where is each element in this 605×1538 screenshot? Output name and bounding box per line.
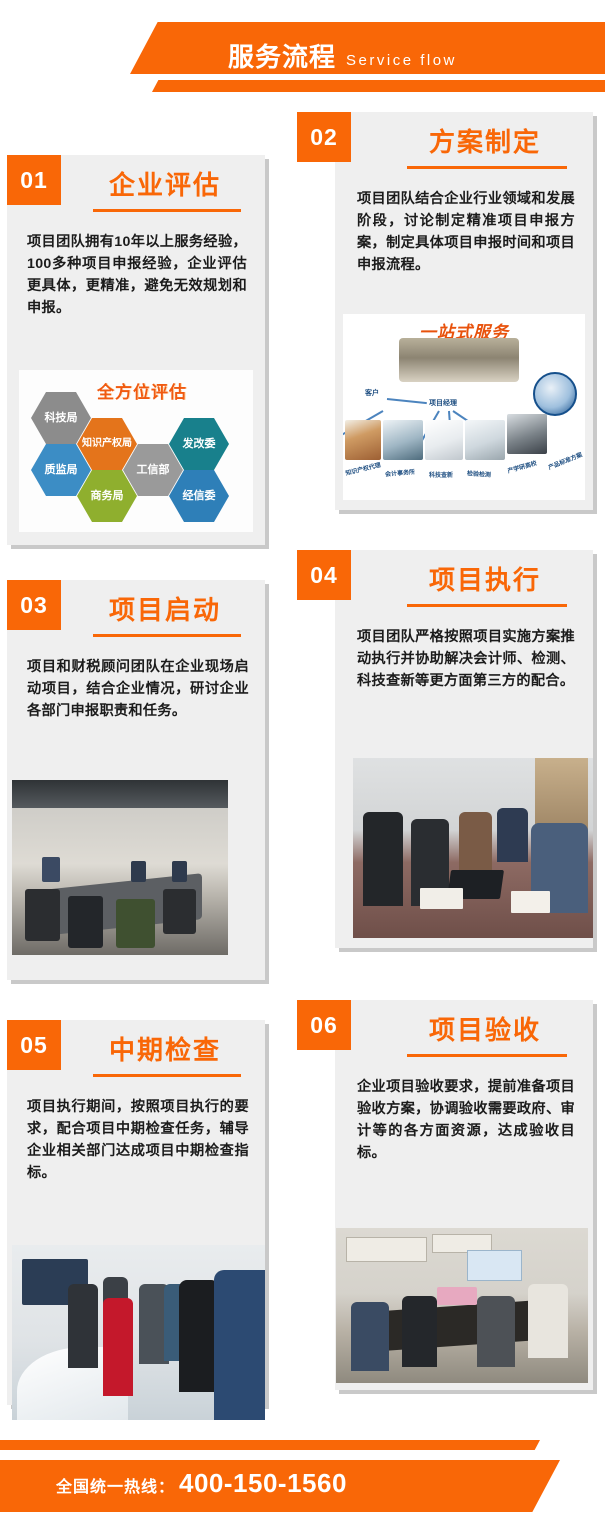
one-stop-label-customer: 客户: [365, 388, 379, 398]
step-card-06: 06 项目验收 企业项目验收要求，提前准备项目验收方案，协调验收需要政府、审计等…: [335, 1000, 593, 1390]
one-stop-branch-label: 科技查新: [429, 470, 453, 479]
step-description: 企业项目验收要求，提前准备项目验收方案，协调验收需要政府、审计等的各方面资源，达…: [357, 1076, 575, 1164]
header-title-group: 服务流程 Service flow: [228, 30, 457, 72]
step-card-05: 05 中期检查 项目执行期间，按照项目执行的要求，配合项目中期检查任务，辅导企业…: [7, 1020, 265, 1405]
one-stop-certification-seal: [533, 372, 577, 416]
service-flow-poster: 服务流程 Service flow 01 企业评估 项目团队拥有10年以上服务经…: [0, 0, 605, 1538]
step-card-01: 01 企业评估 项目团队拥有10年以上服务经验，100多种项目申报经验，企业评估…: [7, 155, 265, 545]
one-stop-thumb-testing: [465, 420, 505, 460]
step-title: 项目执行: [385, 560, 585, 597]
one-stop-thumb-ip: [345, 420, 381, 460]
hotline-group: 全国统一热线： 400-150-1560: [56, 1468, 347, 1499]
step-title: 中期检查: [71, 1030, 259, 1067]
step-number-badge: 02: [297, 112, 351, 162]
hex-node-label: 发改委: [183, 438, 216, 450]
step-number-badge: 01: [7, 155, 61, 205]
one-stop-branch-label: 会计事务所: [385, 467, 416, 479]
one-stop-branch-label: 检验检测: [467, 468, 492, 479]
photo-meeting-room: [12, 780, 228, 955]
step-card-04: 04 项目执行 项目团队严格按照项目实施方案推动执行并协助解决会计师、检测、科技…: [335, 550, 593, 948]
photo-conference: [336, 1228, 588, 1383]
one-stop-thumb-university: [507, 414, 547, 454]
one-stop-hero-photo: [399, 338, 519, 382]
step-title: 项目启动: [71, 590, 259, 627]
one-stop-branch-label: 产学研高校: [506, 458, 537, 475]
one-stop-service-diagram: 一站式服务 客户 项目经理 知识产权代理 会计事务所 科技查新 检验检测 产学研…: [343, 314, 585, 500]
page-subtitle: Service flow: [346, 50, 457, 72]
hex-node-label: 工信部: [137, 464, 170, 476]
step-description: 项目团队严格按照项目实施方案推动执行并协助解决会计师、检测、科技查新等更方面第三…: [357, 626, 575, 692]
step-number-badge: 03: [7, 580, 61, 630]
title-underline: [93, 1074, 241, 1077]
step-description: 项目团队结合企业行业领域和发展阶段，讨论制定精准项目申报方案，制定具体项目申报时…: [357, 188, 575, 276]
step-card-02: 02 方案制定 项目团队结合企业行业领域和发展阶段，讨论制定精准项目申报方案，制…: [335, 112, 593, 510]
hex-node-label: 质监局: [45, 464, 78, 476]
step-description: 项目和财税顾问团队在企业现场启动项目，结合企业情况，研讨企业各部门申报职责和任务…: [27, 656, 249, 722]
step-title: 方案制定: [385, 122, 585, 159]
header-banner-accent-stripe: [152, 80, 605, 92]
photo-site-visit: [12, 1245, 265, 1420]
one-stop-thumb-search: [425, 420, 463, 460]
step-title: 项目验收: [385, 1010, 585, 1047]
page-title: 服务流程: [228, 42, 336, 72]
assessment-hex-diagram: 全方位评估 科技局 知识产权局 质监局 工信部 商务局 发改委 经信委: [19, 370, 253, 532]
title-underline: [93, 634, 241, 637]
title-underline: [407, 166, 567, 169]
title-underline: [407, 604, 567, 607]
one-stop-branch-label: 知识产权代理: [344, 460, 381, 477]
footer-accent-stripe: [0, 1440, 540, 1450]
page-footer: 全国统一热线： 400-150-1560: [0, 1398, 605, 1538]
step-description: 项目执行期间，按照项目执行的要求，配合项目中期检查任务，辅导企业相关部门达成项目…: [27, 1096, 249, 1184]
hex-node-label: 科技局: [45, 412, 78, 424]
step-title: 企业评估: [71, 165, 259, 202]
step-number-badge: 06: [297, 1000, 351, 1050]
title-underline: [93, 209, 241, 212]
hex-node-label: 商务局: [91, 490, 124, 502]
one-stop-label-manager: 项目经理: [429, 398, 457, 408]
step-number-badge: 05: [7, 1020, 61, 1070]
hex-node-label: 经信委: [183, 490, 216, 502]
title-underline: [407, 1054, 567, 1057]
step-number-badge: 04: [297, 550, 351, 600]
hotline-label: 全国统一热线：: [56, 1473, 175, 1497]
hex-diagram-title: 全方位评估: [97, 378, 187, 403]
page-header: 服务流程 Service flow: [0, 0, 605, 110]
hex-node-label: 知识产权局: [77, 438, 137, 450]
one-stop-arrow: [387, 398, 427, 404]
one-stop-thumb-accounting: [383, 420, 423, 460]
one-stop-branch-label: 产品标准方案: [547, 450, 584, 472]
hotline-number[interactable]: 400-150-1560: [179, 1468, 347, 1499]
photo-team-working: [353, 758, 593, 938]
step-card-03: 03 项目启动 项目和财税顾问团队在企业现场启动项目，结合企业情况，研讨企业各部…: [7, 580, 265, 980]
step-description: 项目团队拥有10年以上服务经验，100多种项目申报经验，企业评估更具体，更精准，…: [27, 231, 247, 319]
